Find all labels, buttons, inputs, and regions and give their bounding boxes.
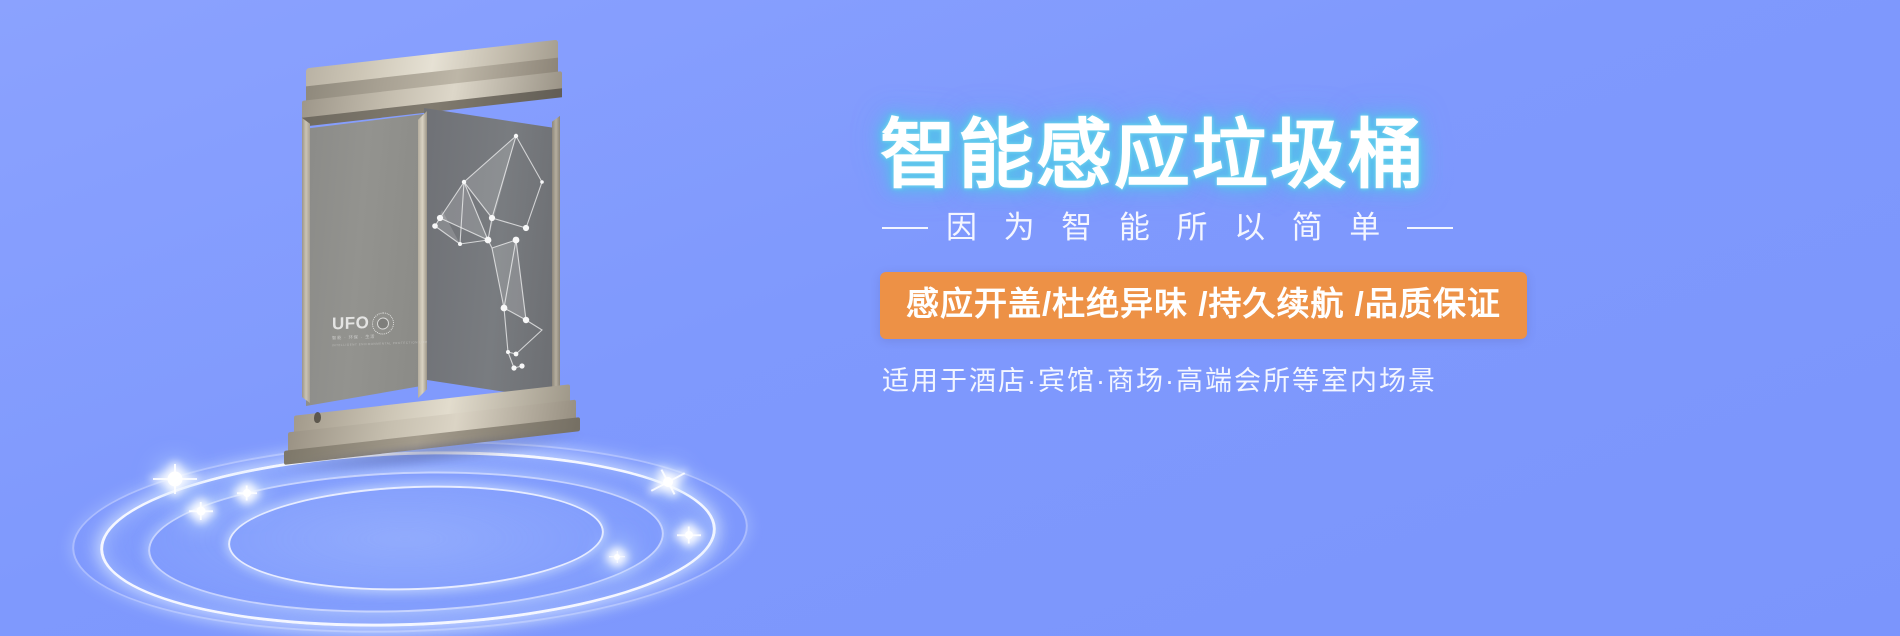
subline-text: 因 为 智 能 所 以 简 单 xyxy=(946,212,1389,243)
dash-left-icon xyxy=(882,227,928,229)
bin-edge-middle xyxy=(418,108,427,404)
feature-badge: 感应开盖/杜绝异味 /持久续航 /品质保证 xyxy=(880,272,1527,339)
brand-logo-emblem-icon xyxy=(372,312,394,335)
headline: 智能感应垃圾桶 xyxy=(880,118,1700,194)
copy-block: 智能感应垃圾桶 因 为 智 能 所 以 简 单 感应开盖/杜绝异味 /持久续航 … xyxy=(880,0,1890,636)
polygon-network-graphic xyxy=(430,122,552,390)
bin-edge-left xyxy=(302,112,310,406)
brand-logo-word: UFO xyxy=(332,313,408,333)
smart-trash-bin-product: UFO 智能 · 环保 · 生活 INTELLIGENT ENVIRONMENT… xyxy=(210,48,590,468)
product-stage: UFO 智能 · 环保 · 生活 INTELLIGENT ENVIRONMENT… xyxy=(60,0,820,636)
bin-edge-right xyxy=(552,110,560,404)
brand-logo-sub2: INTELLIGENT ENVIRONMENTAL PROTECTION LIF… xyxy=(332,341,408,348)
floor-glow xyxy=(80,444,730,634)
bin-body: UFO 智能 · 环保 · 生活 INTELLIGENT ENVIRONMENT… xyxy=(306,108,558,404)
brand-logo-sub: 智能 · 环保 · 生活 xyxy=(332,333,408,342)
subline: 因 为 智 能 所 以 简 单 xyxy=(882,212,1702,243)
dash-right-icon xyxy=(1407,227,1453,229)
promo-banner: UFO 智能 · 环保 · 生活 INTELLIGENT ENVIRONMENT… xyxy=(0,0,1900,636)
scene-caption: 适用于酒店·宾馆·商场·高端会所等室内场景 xyxy=(882,368,1437,395)
brand-logo: UFO 智能 · 环保 · 生活 INTELLIGENT ENVIRONMENT… xyxy=(332,313,408,366)
